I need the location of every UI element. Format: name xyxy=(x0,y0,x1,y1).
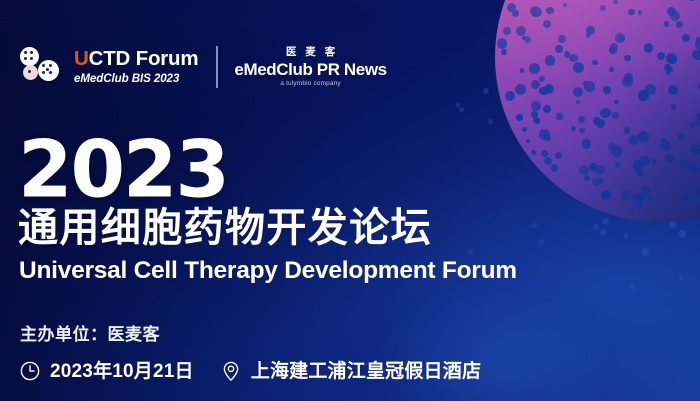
sphere-shading xyxy=(495,0,700,222)
event-date-text: 2023年10月21日 xyxy=(50,362,194,381)
event-venue-text: 上海建工浦江皇冠假日酒店 xyxy=(251,362,481,381)
uctd-forum-title: UCTD Forum xyxy=(74,49,198,70)
hero-year: 2023 xyxy=(18,131,228,209)
uctd-forum-lockup: UCTD Forum eMedClub BIS 2023 xyxy=(74,49,198,86)
uctd-accent-letter: U xyxy=(74,47,89,70)
event-date: 2023年10月21日 xyxy=(19,360,194,382)
hero-en-title: Universal Cell Therapy Development Forum xyxy=(19,259,517,284)
event-poster: UCTD Forum eMedClub BIS 2023 医 麦 客 eMedC… xyxy=(0,0,700,401)
event-meta-row: 2023年10月21日 上海建工浦江皇冠假日酒店 xyxy=(19,360,481,382)
cell-cluster-icon xyxy=(18,45,66,89)
vertical-divider xyxy=(216,46,218,88)
emedclub-cn-name: 医 麦 客 xyxy=(283,47,338,58)
host-organizer-label: 主办单位：医麦客 xyxy=(20,326,160,343)
event-venue: 上海建工浦江皇冠假日酒店 xyxy=(220,360,481,382)
emedclub-tagline: a tulymbio company xyxy=(280,81,340,87)
clock-icon xyxy=(19,360,41,382)
uctd-title-rest: CTD Forum xyxy=(89,47,199,70)
hero-cn-title: 通用细胞药物开发论坛 xyxy=(18,208,432,248)
decorative-sphere xyxy=(495,0,700,222)
emedclub-lockup: 医 麦 客 eMedClub PR News a tulymbio compan… xyxy=(234,47,386,87)
location-pin-icon xyxy=(220,360,242,382)
logo-row: UCTD Forum eMedClub BIS 2023 医 麦 客 eMedC… xyxy=(18,41,387,93)
uctd-forum-subtitle: eMedClub BIS 2023 xyxy=(74,72,198,85)
emedclub-en-name: eMedClub PR News xyxy=(234,61,386,78)
